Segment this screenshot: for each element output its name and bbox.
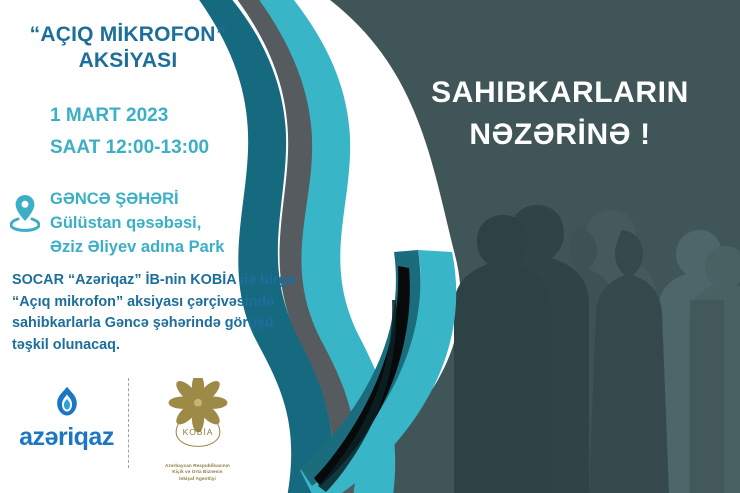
logo-row: azəriqaz [0, 378, 300, 490]
event-datetime: 1 MART 2023 SAAT 12:00-13:00 [50, 100, 280, 164]
event-address-line1: Gülüstan qəsəbəsi, [50, 211, 280, 235]
headline: SAHIBKARLARIN NƏZƏRİNƏ ! [395, 72, 725, 156]
location-pin-icon [10, 192, 40, 232]
svg-text:KOBİA: KOBİA [182, 427, 213, 437]
azeriqaz-wordmark: azəriqaz [14, 423, 119, 451]
azeriqaz-logo: azəriqaz [14, 386, 119, 451]
kobia-subtitle-line3: İnkişaf Agentliyi [150, 476, 245, 482]
flower-icon: KOBİA [155, 441, 241, 458]
event-time: SAAT 12:00-13:00 [50, 132, 280, 164]
headline-line1: SAHIBKARLARIN [431, 76, 689, 109]
gas-flame-icon [53, 404, 81, 421]
event-address-line2: Əziz Əliyev adına Park [50, 235, 280, 259]
crowd-silhouettes [454, 205, 740, 493]
event-title-line1: “AÇIQ MİKROFON” [30, 23, 227, 46]
event-description: SOCAR “Azəriqaz” İB-nin KOBİA ilə birgə … [12, 270, 302, 356]
kobia-subtitle: Azərbaycan Respublikasının Kiçik və Orta… [150, 463, 245, 482]
logo-divider [128, 378, 129, 468]
event-title: “AÇIQ MİKROFON” AKSİYASI [8, 22, 248, 74]
event-location: GƏNCƏ ŞƏHƏRİ Gülüstan qəsəbəsi, Əziz Əli… [50, 187, 280, 259]
event-date: 1 MART 2023 [50, 100, 280, 132]
event-title-line2: AKSİYASI [8, 48, 248, 74]
poster-canvas: “AÇIQ MİKROFON” AKSİYASI 1 MART 2023 SAA… [0, 0, 740, 493]
left-content-column: “AÇIQ MİKROFON” AKSİYASI 1 MART 2023 SAA… [0, 0, 310, 493]
headline-line2: NƏZƏRİNƏ ! [395, 114, 725, 156]
event-city: GƏNCƏ ŞƏHƏRİ [50, 187, 280, 211]
kobia-logo: KOBİA Azərbaycan Respublikasının Kiçik v… [150, 378, 245, 482]
